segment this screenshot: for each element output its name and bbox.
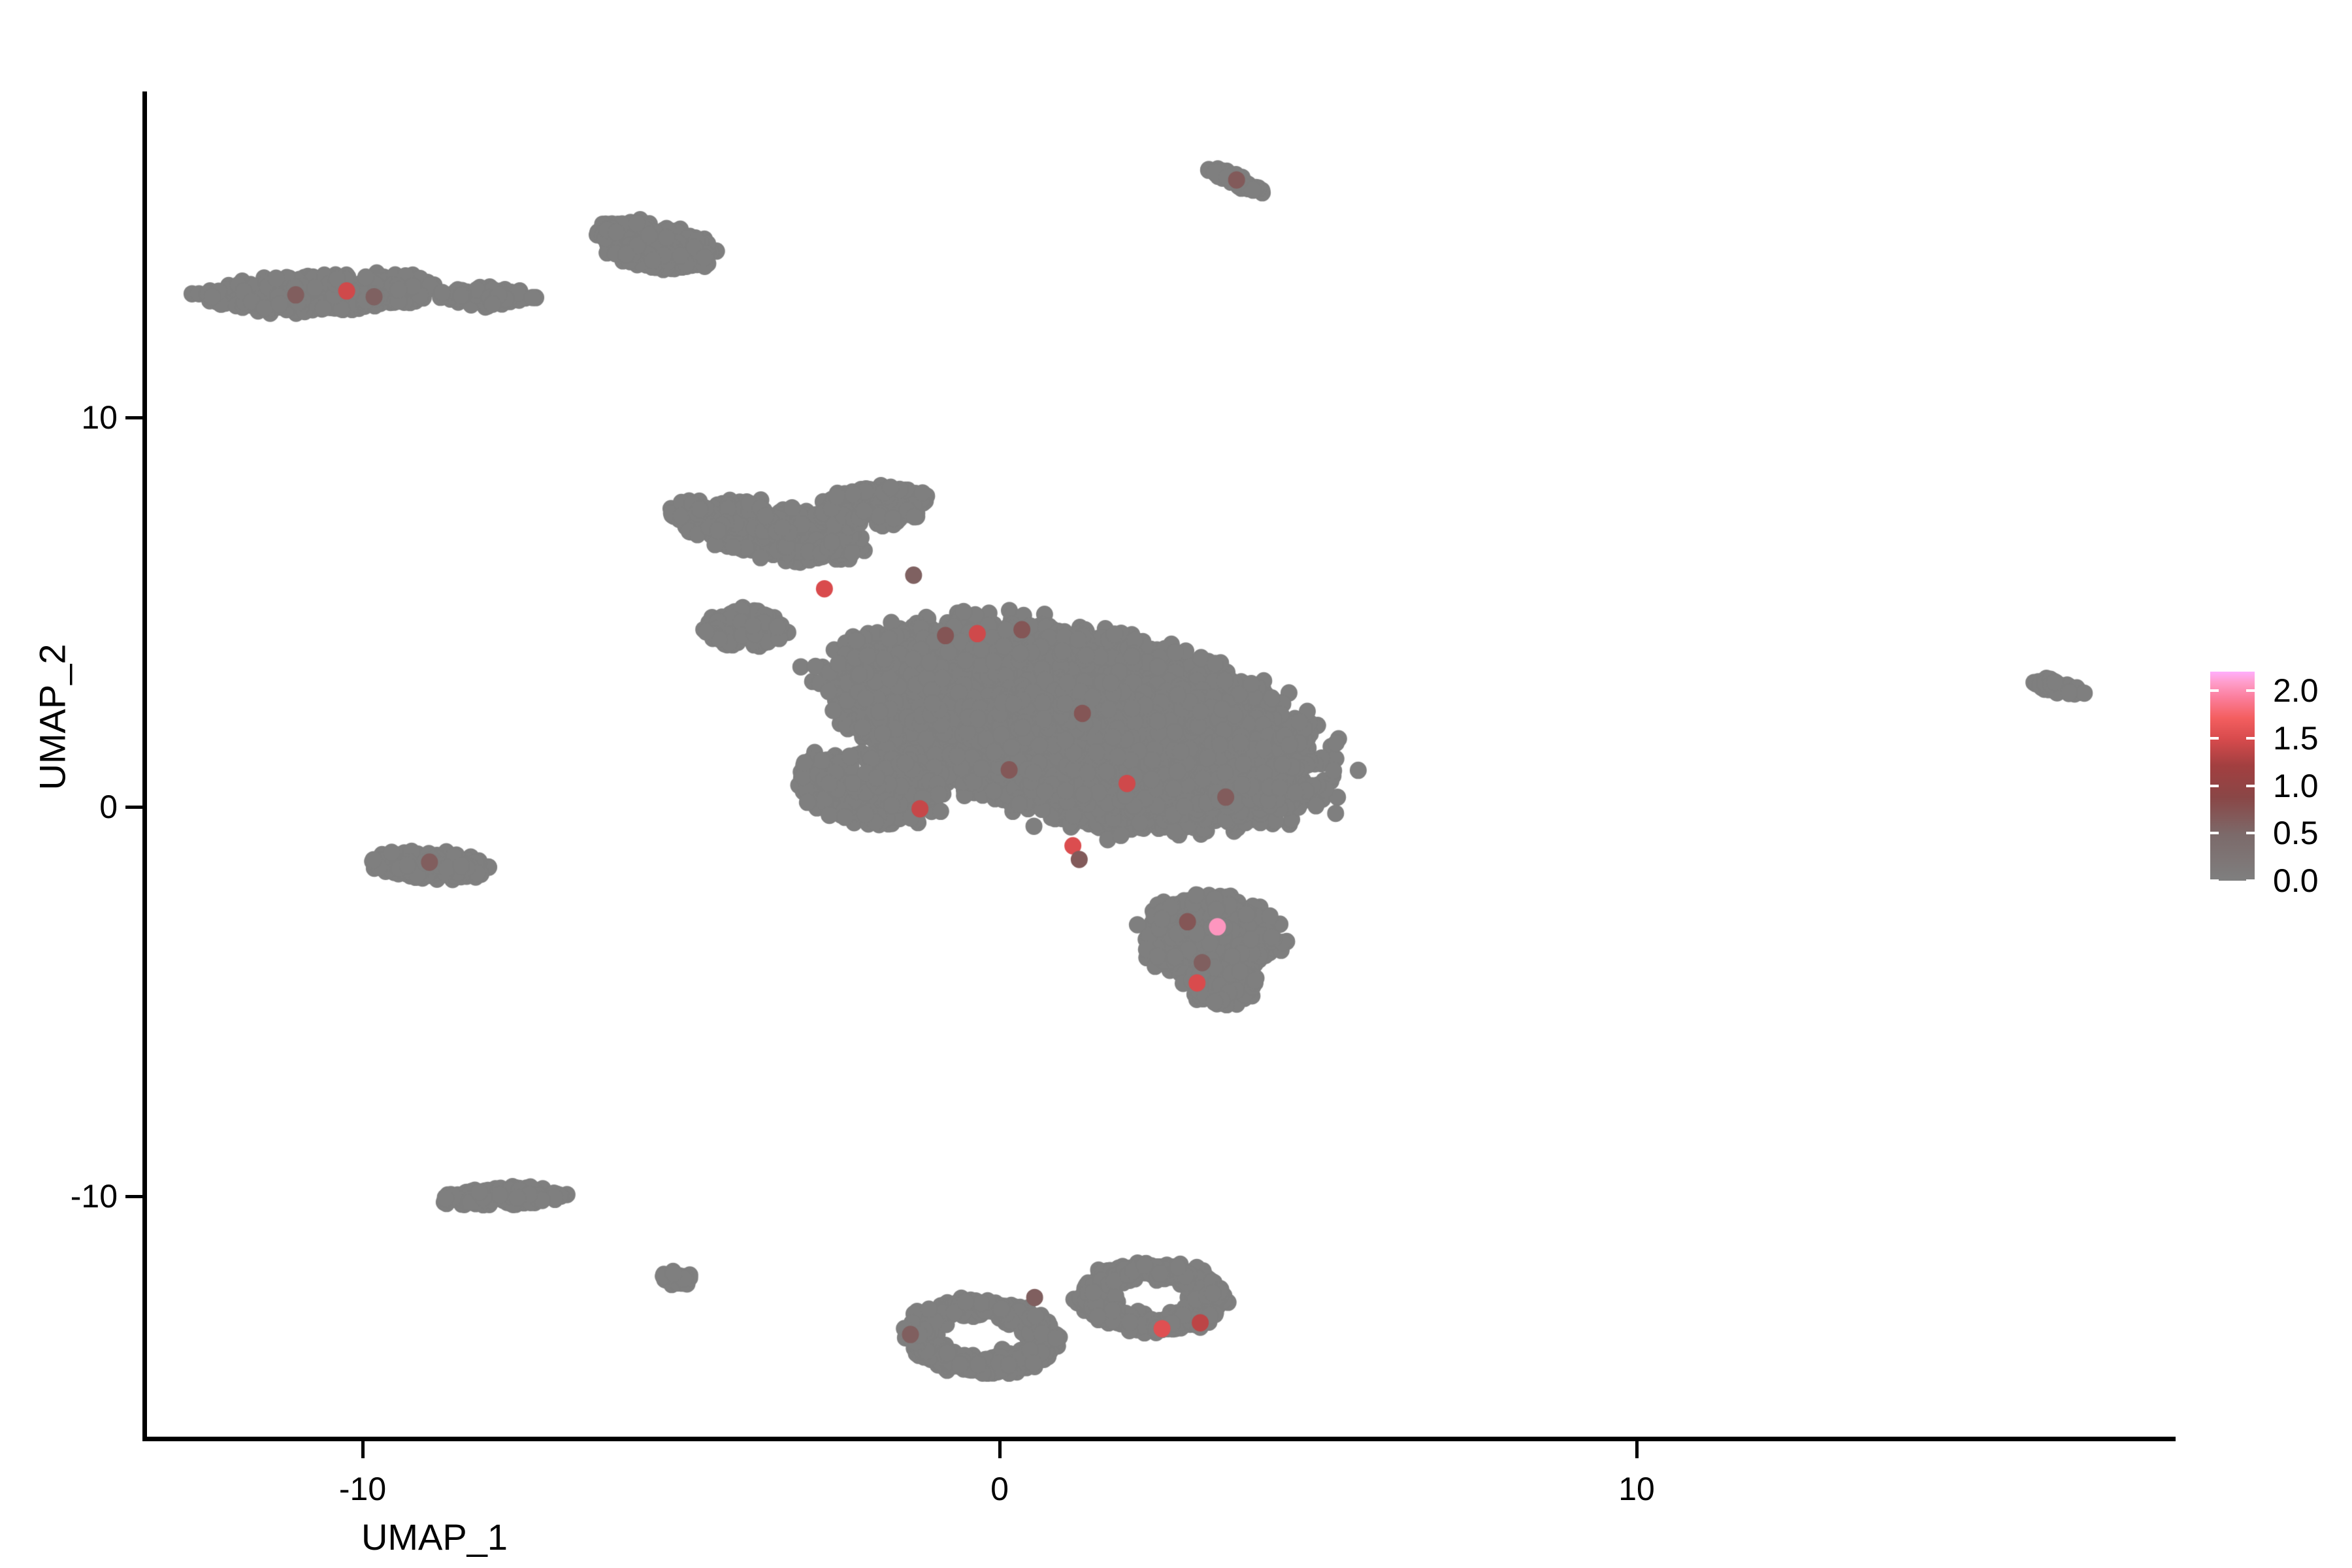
colorbar-tick-label: 1.0 [2273, 767, 2319, 805]
colorbar-tick-label: 0.0 [2273, 862, 2319, 900]
scatter-plot-canvas [0, 0, 2352, 1568]
colorbar-tick-mark [2210, 879, 2219, 882]
x-axis-title-text: UMAP_1 [361, 1516, 508, 1558]
colorbar-legend: 0.00.51.01.52.0 [2210, 672, 2341, 887]
colorbar-tick-label: 1.5 [2273, 719, 2319, 757]
colorbar-tick-mark [2246, 879, 2255, 882]
x-tick-label: 0 [990, 1470, 1009, 1508]
x-axis-title: UMAP_1 [0, 1516, 2176, 1558]
y-axis-line [142, 91, 147, 1441]
y-tick-label: -10 [71, 1177, 118, 1215]
y-tick-mark [125, 416, 142, 419]
x-tick-mark [1635, 1441, 1639, 1458]
colorbar-tick-mark [2246, 785, 2255, 787]
y-axis-title: UMAP_2 [31, 325, 74, 1109]
y-tick-mark [125, 806, 142, 809]
colorbar-tick-mark [2210, 737, 2219, 740]
colorbar-tick-label: 2.0 [2273, 672, 2319, 710]
x-tick-mark [998, 1441, 1002, 1458]
colorbar-gradient [2210, 672, 2255, 881]
umap-feature-plot: Olfr164 -10010 -10010 UMAP_1 UMAP_2 0.00… [0, 0, 2352, 1568]
colorbar-tick-mark [2210, 832, 2219, 834]
colorbar-tick-label: 0.5 [2273, 814, 2319, 852]
colorbar-tick-mark [2246, 832, 2255, 834]
x-tick-label: -10 [339, 1470, 386, 1508]
x-tick-label: 10 [1618, 1470, 1655, 1508]
x-axis-line [142, 1437, 2176, 1441]
y-tick-label: 0 [99, 788, 118, 826]
y-tick-label: 10 [81, 399, 118, 436]
y-axis-title-text: UMAP_2 [32, 644, 73, 790]
x-tick-mark [361, 1441, 365, 1458]
colorbar-tick-mark [2246, 737, 2255, 740]
colorbar-tick-mark [2210, 785, 2219, 787]
colorbar-tick-mark [2210, 689, 2219, 692]
y-tick-mark [125, 1195, 142, 1198]
colorbar-tick-mark [2246, 689, 2255, 692]
